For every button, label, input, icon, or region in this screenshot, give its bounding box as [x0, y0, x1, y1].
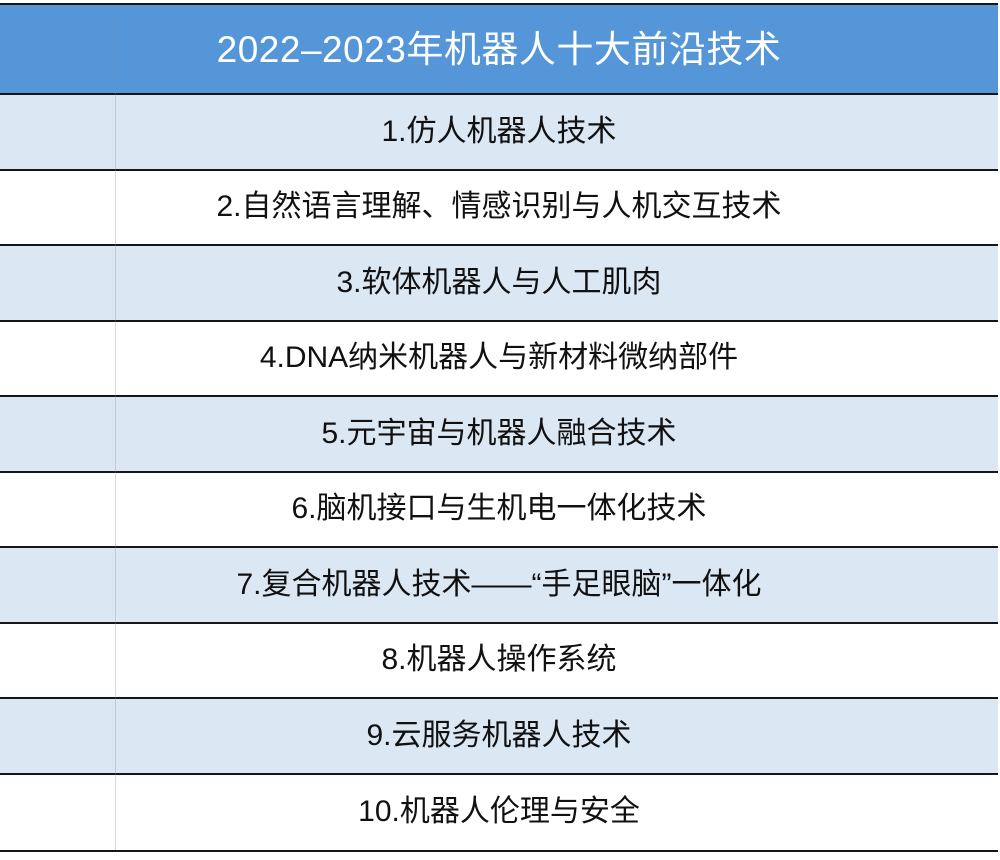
- table-row: 2.自然语言理解、情感识别与人机交互技术: [0, 171, 998, 247]
- page-root: 2022–2023年机器人十大前沿技术 1.仿人机器人技术 2.自然语言理解、情…: [0, 0, 1000, 860]
- table-row-label: 9.云服务机器人技术: [366, 721, 631, 751]
- table-row-label: 4.DNA纳米机器人与新材料微纳部件: [260, 343, 738, 373]
- table-row: 7.复合机器人技术——“手足眼脑”一体化: [0, 548, 998, 624]
- table-row-label: 10.机器人伦理与安全: [358, 797, 640, 827]
- table-row: 8.机器人操作系统: [0, 624, 998, 700]
- table-row: 6.脑机接口与生机电一体化技术: [0, 473, 998, 549]
- table-row: 9.云服务机器人技术: [0, 699, 998, 775]
- table-row: 5.元宇宙与机器人融合技术: [0, 397, 998, 473]
- top-technologies-table: 2022–2023年机器人十大前沿技术 1.仿人机器人技术 2.自然语言理解、情…: [0, 3, 998, 852]
- table-row: 1.仿人机器人技术: [0, 95, 998, 171]
- table-header-row: 2022–2023年机器人十大前沿技术: [0, 5, 998, 95]
- table-row: 4.DNA纳米机器人与新材料微纳部件: [0, 322, 998, 398]
- table-row-label: 8.机器人操作系统: [381, 645, 616, 675]
- table-row-label: 2.自然语言理解、情感识别与人机交互技术: [216, 192, 781, 222]
- table-row-label: 6.脑机接口与生机电一体化技术: [291, 494, 706, 524]
- table-row-label: 5.元宇宙与机器人融合技术: [321, 419, 676, 449]
- table-title: 2022–2023年机器人十大前沿技术: [217, 31, 782, 68]
- table-row: 10.机器人伦理与安全: [0, 775, 998, 851]
- table-row-label: 1.仿人机器人技术: [381, 117, 616, 147]
- table-row: 3.软体机器人与人工肌肉: [0, 246, 998, 322]
- table-row-label: 3.软体机器人与人工肌肉: [336, 268, 661, 298]
- table-row-label: 7.复合机器人技术——“手足眼脑”一体化: [237, 570, 762, 600]
